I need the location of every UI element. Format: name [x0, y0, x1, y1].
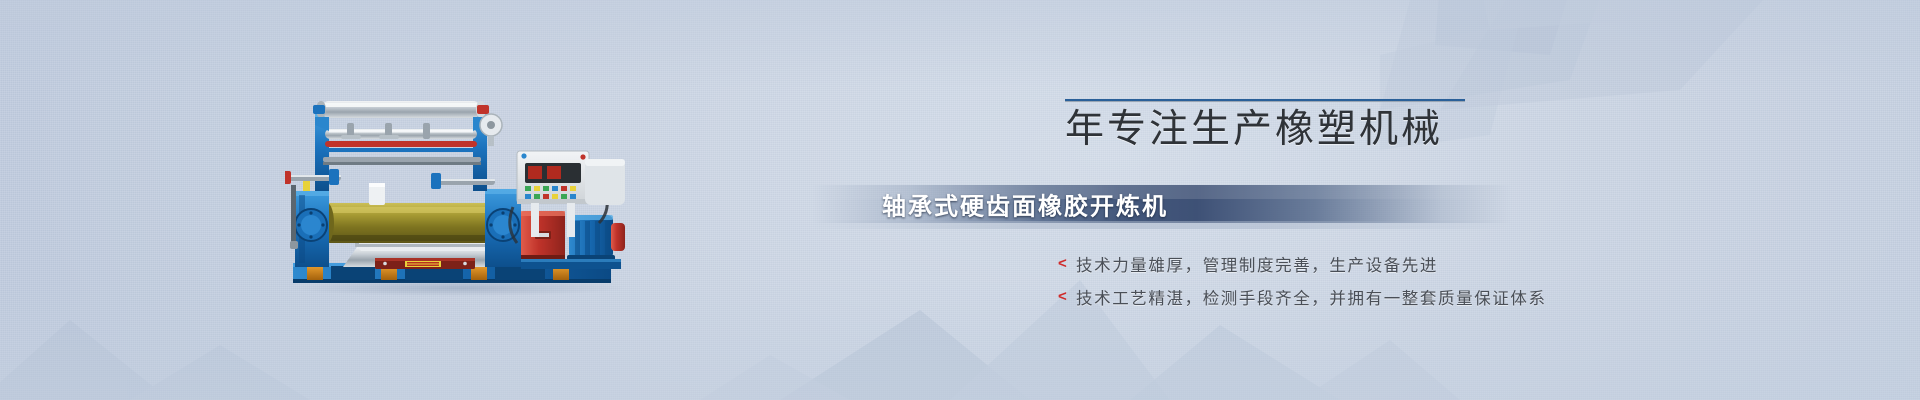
title-divider-rule	[1065, 99, 1465, 102]
feature-item: < 技术力量雄厚，管理制度完善，生产设备先进	[1058, 247, 1547, 280]
feature-item: < 技术工艺精湛，检测手段齐全，并拥有一整套质量保证体系	[1058, 280, 1547, 313]
chevron-left-icon: <	[1058, 289, 1076, 304]
chevron-left-icon: <	[1058, 256, 1076, 271]
feature-item-label: 技术力量雄厚，管理制度完善，生产设备先进	[1076, 252, 1438, 276]
hero-banner: 年专注生产橡塑机械 轴承式硬齿面橡胶开炼机 < 技术力量雄厚，管理制度完善，生产…	[0, 0, 1920, 400]
hero-subtitle-band: 轴承式硬齿面橡胶开炼机	[812, 185, 1512, 223]
divider-line-grey	[1065, 101, 1465, 102]
band-lower-glow	[812, 221, 1512, 229]
hero-feature-list: < 技术力量雄厚，管理制度完善，生产设备先进 < 技术工艺精湛，检测手段齐全，并…	[1058, 247, 1547, 313]
feature-item-label: 技术工艺精湛，检测手段齐全，并拥有一整套质量保证体系	[1076, 285, 1547, 309]
hero-headline: 年专注生产橡塑机械	[1065, 106, 1443, 154]
hero-subtitle-text: 轴承式硬齿面橡胶开炼机	[882, 187, 1168, 222]
hero-text-block: 年专注生产橡塑机械 轴承式硬齿面橡胶开炼机 < 技术力量雄厚，管理制度完善，生产…	[0, 0, 1920, 400]
